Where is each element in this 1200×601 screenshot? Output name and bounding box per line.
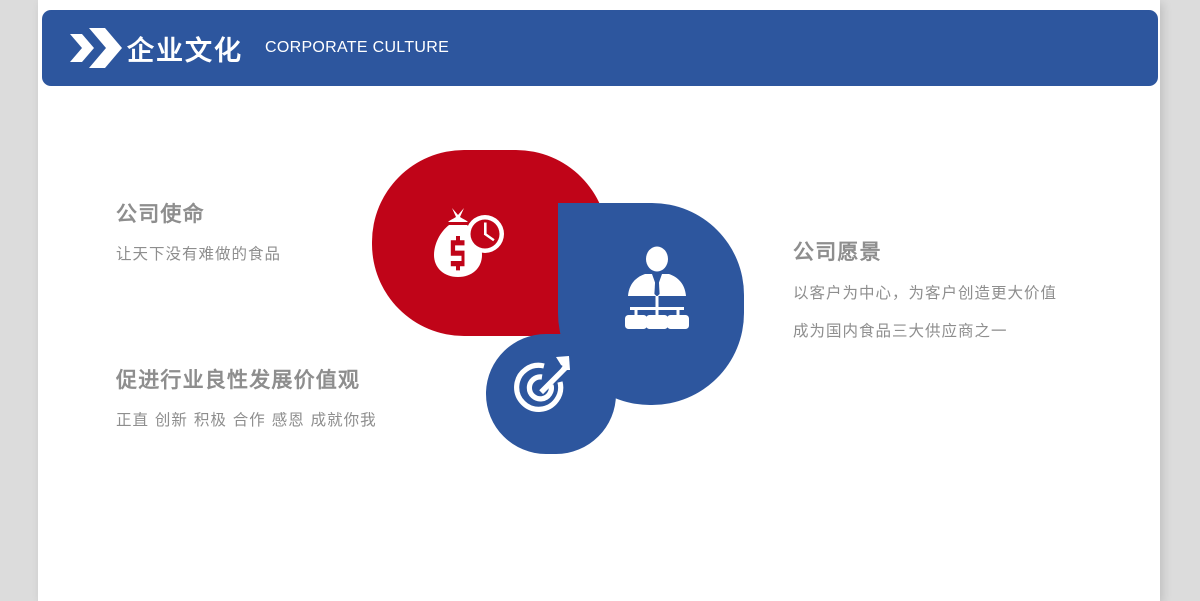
vision-heading: 公司愿景 [793,240,1057,265]
mission-text-block: 公司使命 让天下没有难做的食品 [116,202,281,265]
values-petal[interactable] [486,334,616,454]
vision-line-2: 成为国内食品三大供应商之一 [793,322,1057,341]
mission-heading: 公司使命 [116,202,281,227]
values-text-block: 促进行业良性发展价值观 正直 创新 积极 合作 感恩 成就你我 [116,368,377,431]
vision-line-1: 以客户为中心，为客户创造更大价值 [793,284,1057,303]
header-bar: 企业文化 CORPORATE CULTURE [42,10,1158,86]
petal-graphic [372,150,772,460]
values-line-1: 正直 创新 积极 合作 感恩 成就你我 [116,411,377,430]
header-title-cn: 企业文化 [127,29,243,68]
vision-text-block: 公司愿景 以客户为中心，为客户创造更大价值 成为国内食品三大供应商之一 [793,240,1057,341]
mission-line-1: 让天下没有难做的食品 [116,245,281,264]
header-title-en: CORPORATE CULTURE [265,39,449,57]
double-chevron-right-icon [69,25,123,71]
slide-root: 企业文化 CORPORATE CULTURE [0,0,1200,601]
values-heading: 促进行业良性发展价值观 [116,368,377,393]
